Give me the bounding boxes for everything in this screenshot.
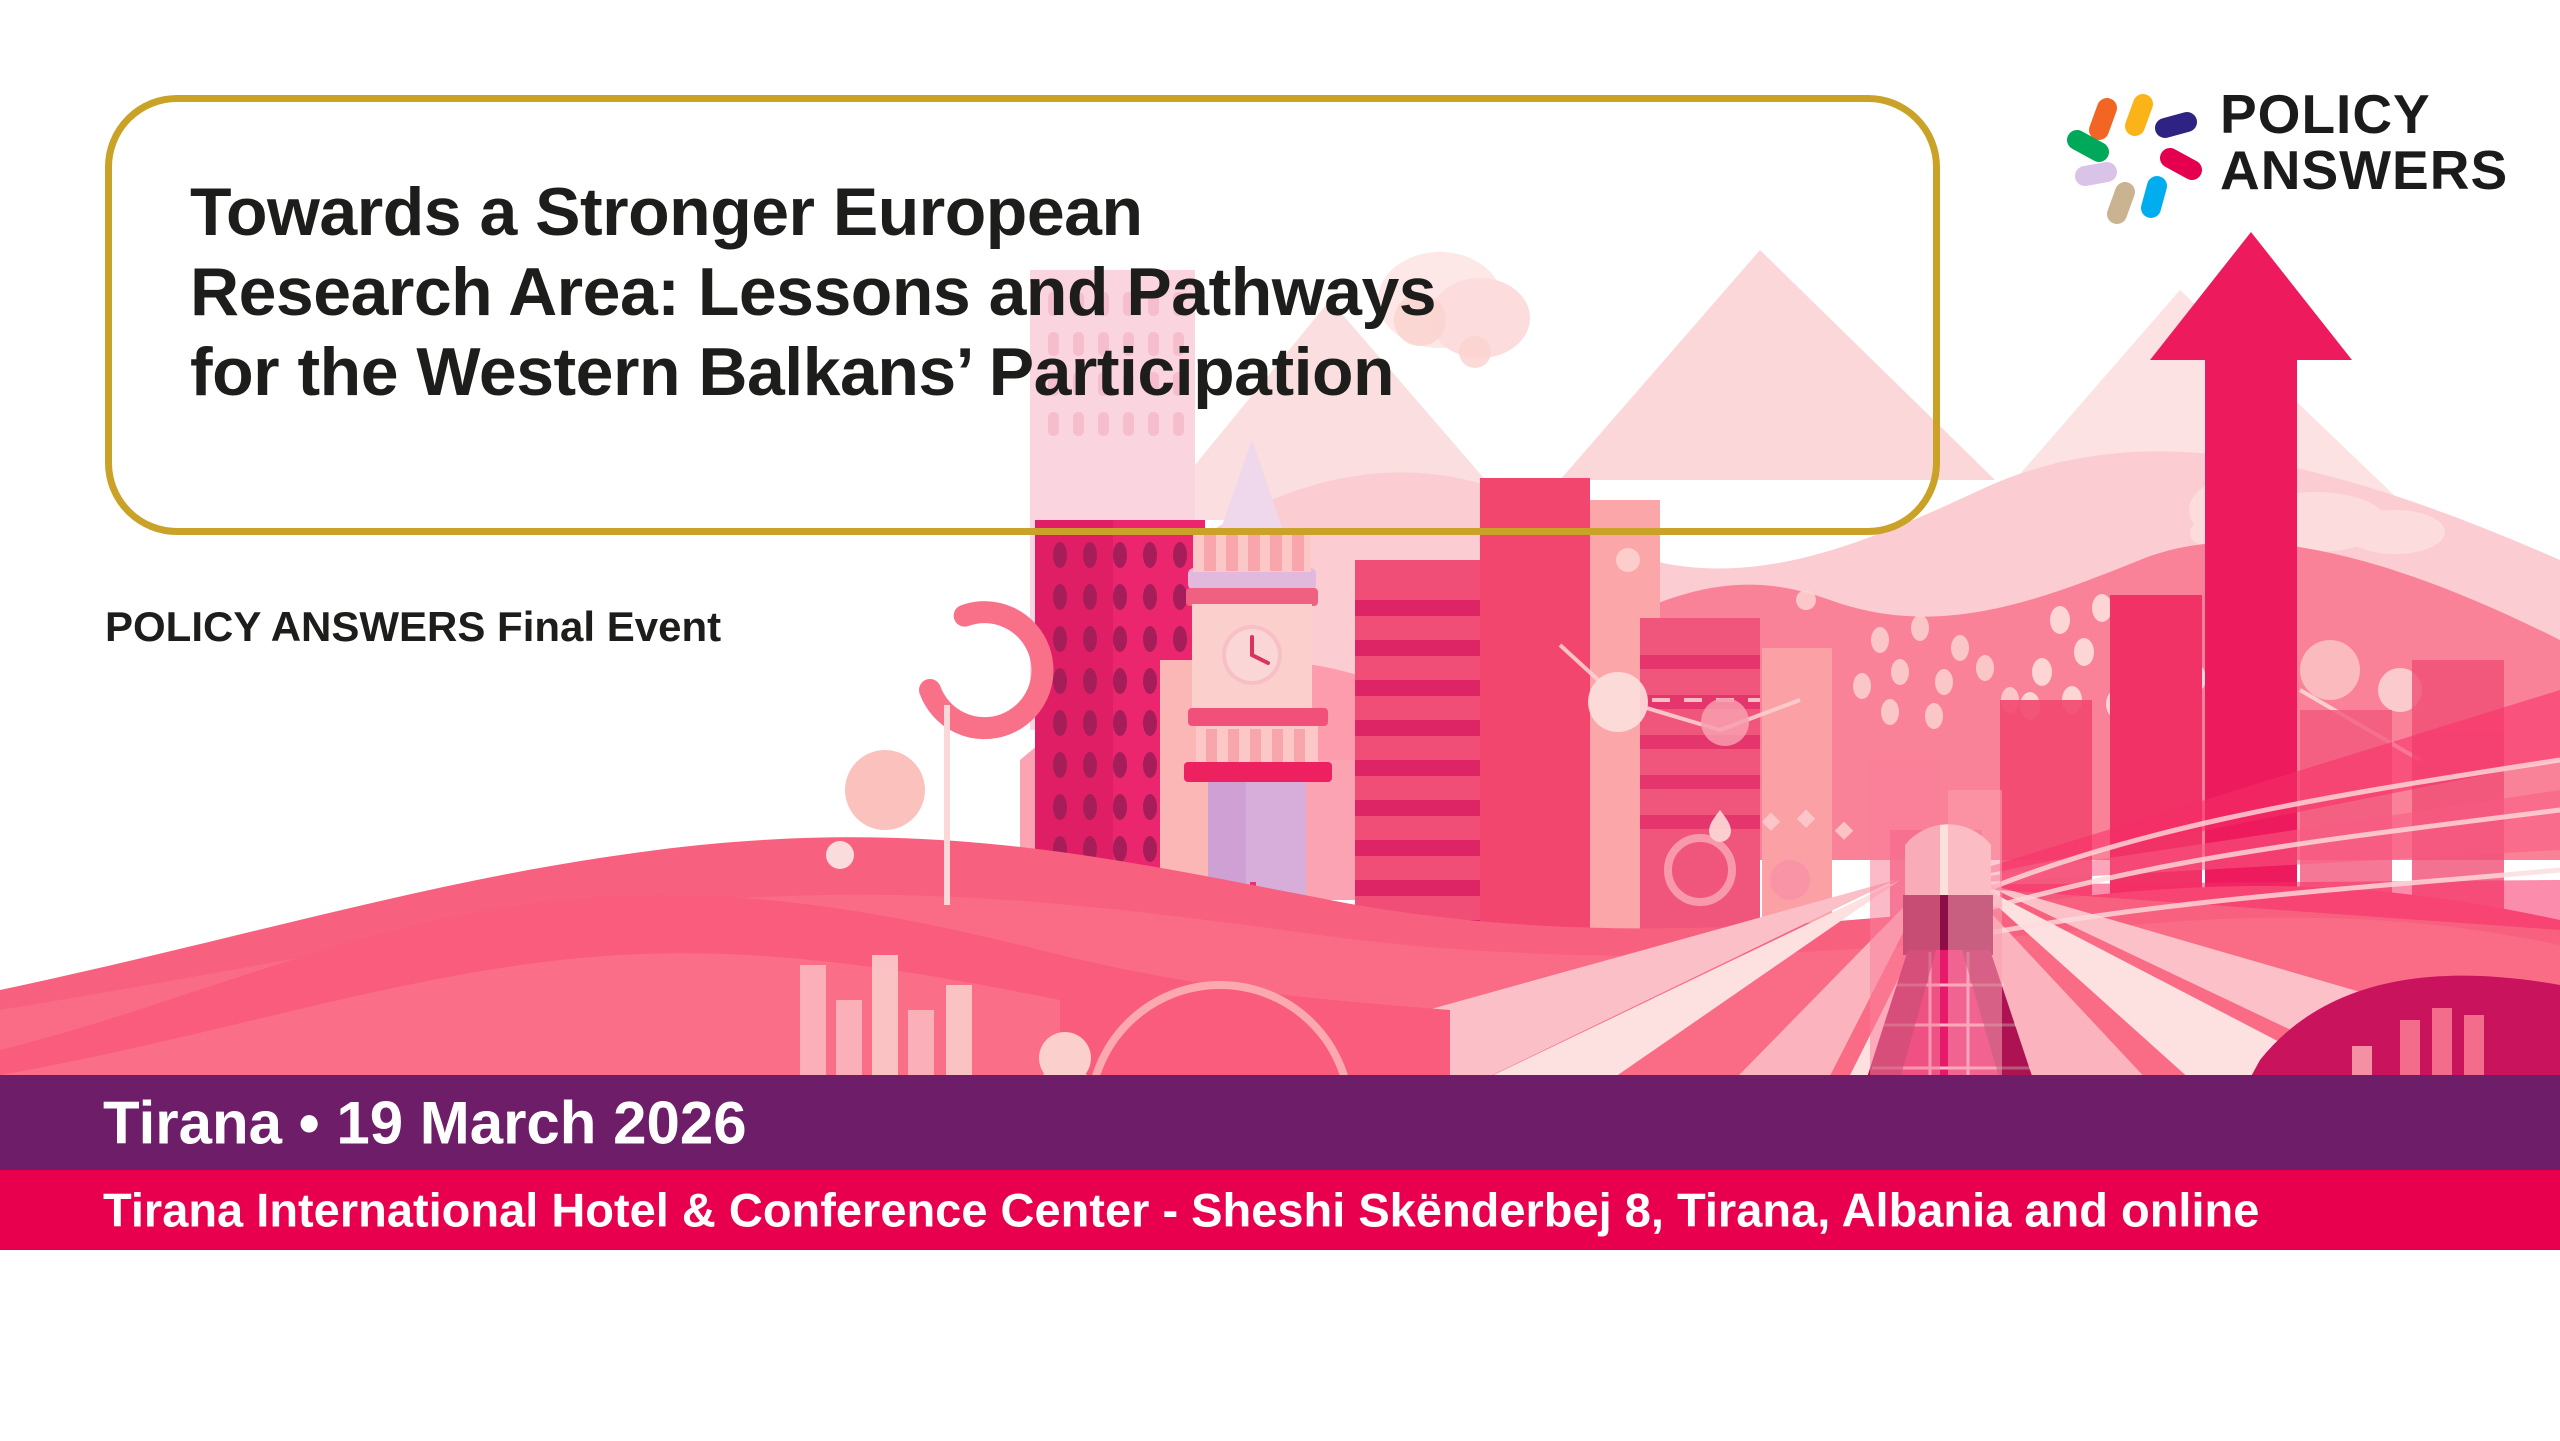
logo-wordmark: POLICY ANSWERS xyxy=(2220,86,2520,198)
footer: POLICY ANSWERS is funded by the European… xyxy=(0,1250,2560,1441)
small-dot xyxy=(826,841,854,869)
event-subtitle: POLICY ANSWERS Final Event xyxy=(105,603,721,651)
page-title: Towards a Stronger European Research Are… xyxy=(190,172,1890,413)
policy-answers-logo: POLICY ANSWERS xyxy=(2055,78,2525,228)
venue-text: Tirana International Hotel & Conference … xyxy=(103,1183,2259,1238)
logo-word-line1: POLICY xyxy=(2220,86,2520,142)
title-line-1: Towards a Stronger European xyxy=(190,172,1890,252)
date-bar: Tirana • 19 March 2026 xyxy=(0,1075,2560,1170)
event-banner: POLICY ANSWERS Towards a Stronger Europe… xyxy=(0,0,2560,1441)
logo-mark-icon xyxy=(2055,78,2205,228)
title-line-2: Research Area: Lessons and Pathways xyxy=(190,252,1890,332)
date-text: Tirana • 19 March 2026 xyxy=(103,1088,747,1157)
balloon-shape xyxy=(845,750,925,830)
venue-bar: Tirana International Hotel & Conference … xyxy=(0,1170,2560,1250)
logo-word-line2: ANSWERS xyxy=(2220,142,2520,198)
title-line-3: for the Western Balkans’ Participation xyxy=(190,332,1890,412)
faint-left-buildings xyxy=(1870,760,2002,1080)
